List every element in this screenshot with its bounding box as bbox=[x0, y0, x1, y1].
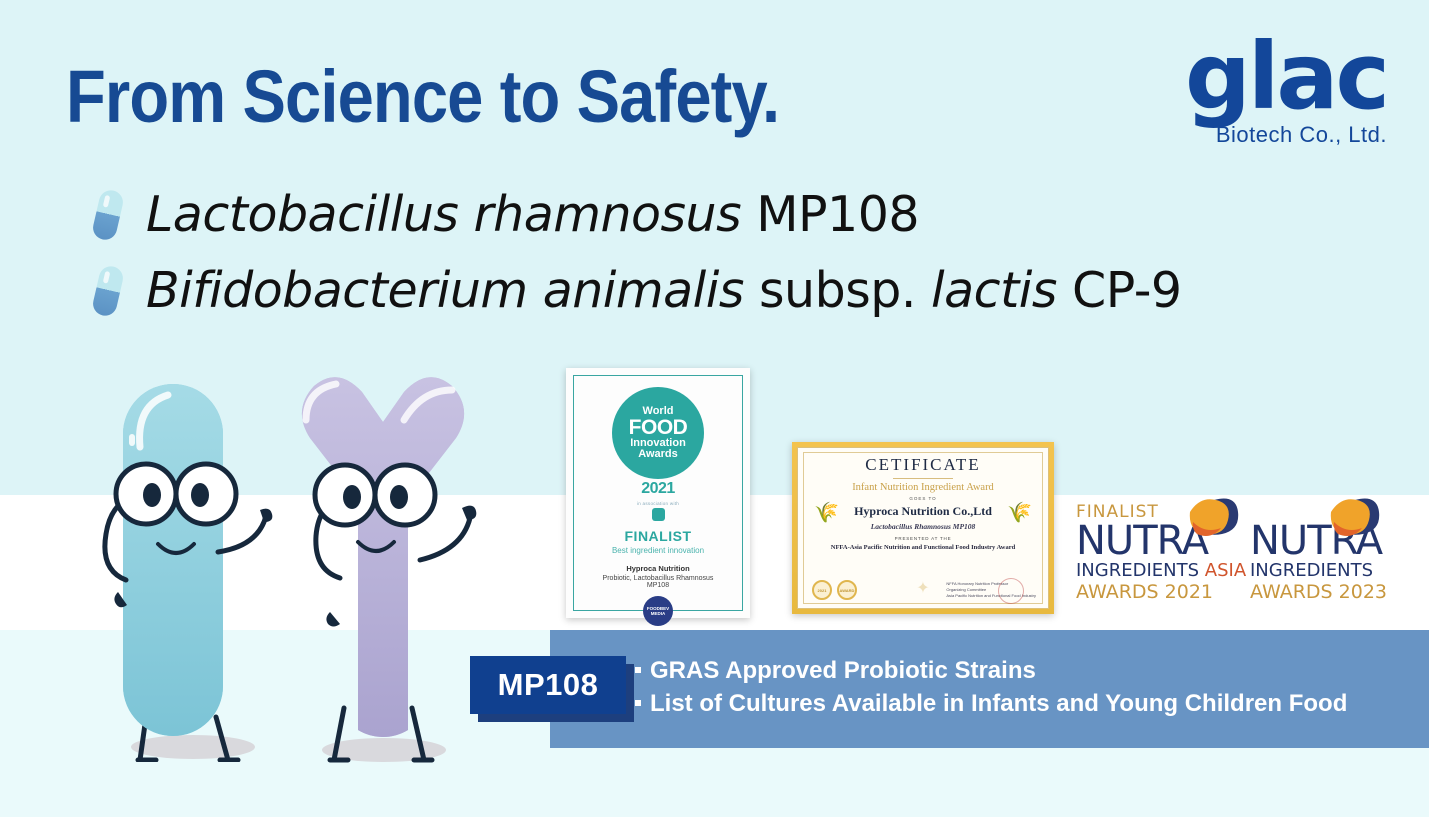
bifidobacterium-y-character bbox=[272, 360, 502, 770]
strain-subspecies-2: lactis bbox=[931, 262, 1057, 319]
nutra-leaf-icon bbox=[1325, 496, 1383, 538]
nutraingredients-2023-logo: NUTRA INGREDIENTS AWARDS 2023 bbox=[1250, 502, 1387, 603]
nutra-leaf-icon bbox=[1184, 496, 1242, 538]
nutra-asia-region: ASIA bbox=[1205, 560, 1246, 581]
nutraingredients-asia-2021-logo: FINALIST NUTRA INGREDIENTS ASIA AWARDS 2… bbox=[1076, 502, 1246, 603]
wfia-product: Probiotic, Lactobacillus Rhamnosus bbox=[582, 575, 734, 582]
strain-subsp-label: subsp. bbox=[759, 262, 916, 319]
certificate-event: NFFA-Asia Pacific Nutrition and Function… bbox=[798, 544, 1048, 551]
capsule-icon bbox=[91, 187, 126, 241]
wfia-badge-line2: FOOD bbox=[629, 417, 688, 438]
certificate-inner: 🌾 🌾 CETIFICATE Infant Nutrition Ingredie… bbox=[797, 447, 1049, 609]
fc-logo-icon bbox=[652, 508, 665, 521]
strain-species-1: Lactobacillus rhamnosus bbox=[146, 186, 741, 243]
brand-logo: glac Biotech Co., Ltd. bbox=[1185, 33, 1387, 148]
nutra-asia-ingredients: INGREDIENTS bbox=[1076, 560, 1199, 581]
wfia-badge-icon: World FOOD Innovation Awards bbox=[612, 387, 704, 479]
strain-code-1: MP108 bbox=[756, 186, 919, 243]
strain-line-2: Bifidobacterium animalis subsp. lactis C… bbox=[96, 262, 1182, 319]
red-stamp-icon bbox=[998, 578, 1024, 604]
lactobacillus-rod-character bbox=[88, 362, 303, 767]
strain-species-2: Bifidobacterium animalis bbox=[146, 262, 744, 319]
nutra-asia-year: 2021 bbox=[1165, 581, 1213, 603]
claims-list: GRAS Approved Probiotic Strains List of … bbox=[635, 655, 1347, 720]
mp108-badge-label: MP108 bbox=[498, 667, 599, 703]
certificate-subtitle: Infant Nutrition Ingredient Award bbox=[798, 482, 1048, 493]
wfia-company: Hyproca Nutrition bbox=[582, 564, 734, 573]
wfia-year: 2021 bbox=[582, 480, 734, 498]
nutra-asia-awards: AWARDS bbox=[1076, 581, 1159, 603]
nutra-2023-awards-row: AWARDS 2023 bbox=[1250, 581, 1387, 603]
strain-text-2: Bifidobacterium animalis subsp. lactis C… bbox=[146, 262, 1182, 319]
nutra-2023-awards: AWARDS bbox=[1250, 581, 1333, 603]
strain-text-1: Lactobacillus rhamnosus MP108 bbox=[146, 186, 919, 243]
certificate-seals: 2021 AWARD bbox=[812, 580, 857, 600]
claim-text: GRAS Approved Probiotic Strains bbox=[650, 655, 1036, 688]
wfia-result: FINALIST bbox=[582, 528, 734, 544]
strain-code-2: CP-9 bbox=[1072, 262, 1182, 319]
logo-subtitle: Biotech Co., Ltd. bbox=[1185, 122, 1387, 148]
certificate-presented-label: PRESENTED AT THE bbox=[798, 536, 1048, 541]
nutra-asia-ingredients-row: INGREDIENTS ASIA bbox=[1076, 560, 1246, 581]
world-food-innovation-awards-certificate: World FOOD Innovation Awards 2021 in ass… bbox=[566, 368, 750, 618]
certificate-strain: Lactobacillus Rhamnosus MP108 bbox=[798, 522, 1048, 531]
claim-item: List of Cultures Available in Infants an… bbox=[635, 688, 1347, 721]
nutra-2023-ingredients: INGREDIENTS bbox=[1250, 560, 1387, 581]
capsule-icon bbox=[91, 263, 126, 317]
nutra-2023-year: 2023 bbox=[1339, 581, 1387, 603]
strain-line-1: Lactobacillus rhamnosus MP108 bbox=[96, 186, 919, 243]
wfia-badge-line4: Awards bbox=[638, 449, 678, 460]
wfia-category: Best ingredient innovation bbox=[582, 546, 734, 555]
infant-nutrition-certificate: 🌾 🌾 CETIFICATE Infant Nutrition Ingredie… bbox=[792, 442, 1054, 614]
mp108-badge: MP108 bbox=[470, 656, 626, 714]
foodbev-media-logo-icon: FOODBEV MEDIA bbox=[643, 596, 673, 626]
certificate-goes-to: GOES TO bbox=[798, 496, 1048, 501]
wfia-inner-frame: World FOOD Innovation Awards 2021 in ass… bbox=[573, 375, 743, 611]
certificate-title: CETIFICATE bbox=[798, 455, 1048, 475]
bullet-square-icon bbox=[635, 700, 641, 706]
page-title: From Science to Safety. bbox=[66, 54, 779, 139]
gold-seal-left-icon: 2021 bbox=[812, 580, 832, 600]
starburst-icon: ✦ bbox=[916, 578, 929, 598]
certificate-recipient: Hyproca Nutrition Co.,Ltd bbox=[798, 504, 1048, 519]
wfia-product-code: MP108 bbox=[582, 582, 734, 589]
nutra-asia-awards-row: AWARDS 2021 bbox=[1076, 581, 1246, 603]
wfia-association: in association with bbox=[582, 501, 734, 506]
promotional-poster: From Science to Safety. glac Biotech Co.… bbox=[0, 0, 1429, 817]
gold-seal-right-icon: AWARD bbox=[837, 580, 857, 600]
claim-text: List of Cultures Available in Infants an… bbox=[650, 688, 1347, 721]
claim-item: GRAS Approved Probiotic Strains bbox=[635, 655, 1347, 688]
logo-wordmark: glac bbox=[1185, 33, 1387, 120]
bullet-square-icon bbox=[635, 667, 641, 673]
